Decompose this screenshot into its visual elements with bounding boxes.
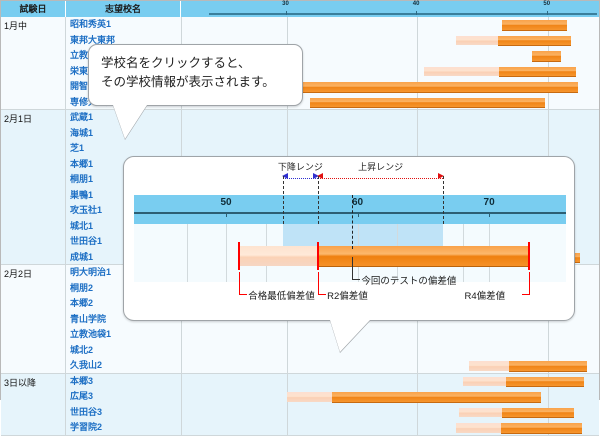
row-plot: [181, 141, 599, 157]
table-row[interactable]: 世田谷3: [66, 405, 599, 421]
school-name-link[interactable]: 芝1: [70, 141, 177, 157]
grid-line: [417, 48, 418, 64]
leader-r4: [522, 272, 530, 295]
detail-tail: [330, 320, 370, 352]
bar-segment-dark[interactable]: [293, 82, 578, 93]
leader-min-pass: [239, 272, 247, 295]
grid-line: [287, 374, 288, 390]
row-plot: [181, 420, 599, 436]
bar-segment-pale[interactable]: [459, 408, 502, 418]
bar-segment-pale[interactable]: [287, 392, 333, 402]
header-axis: 304050: [181, 1, 599, 17]
bar-segment-dark[interactable]: [501, 423, 582, 434]
detail-plot: [134, 224, 566, 282]
table-header: 試験日 志望校名 304050: [1, 1, 599, 17]
grid-line: [548, 141, 549, 157]
table-row[interactable]: 久我山2: [66, 358, 599, 374]
label-r4: R4偏差値: [465, 288, 506, 302]
grid-line: [548, 389, 549, 405]
bar-segment-dark[interactable]: [310, 98, 545, 109]
label-r2: R2偏差値: [327, 288, 368, 302]
table-row[interactable]: 芝1: [66, 141, 599, 157]
bar-segment-dark[interactable]: [499, 67, 576, 78]
group-date-label: 2月2日: [1, 265, 66, 373]
row-plot: [181, 126, 599, 142]
bar-segment-dark[interactable]: [502, 20, 567, 31]
grid-line: [417, 110, 418, 126]
row-plot: [181, 17, 599, 33]
bar-segment-pale[interactable]: [424, 67, 500, 77]
group-date-label: 1月中: [1, 17, 66, 109]
row-plot: [181, 374, 599, 390]
table-row[interactable]: 本郷3: [66, 374, 599, 390]
detail-axis-label-60: 60: [352, 197, 363, 208]
tooltip-text: 学校名をクリックすると、 その学校情報が表示されます。: [89, 45, 302, 102]
grid-line: [417, 343, 418, 359]
range-guide-line-a: [283, 176, 284, 224]
school-name-link[interactable]: 学習院2: [70, 420, 177, 436]
detail-axis-tick-60: [358, 213, 359, 217]
table-row[interactable]: 昭和秀英1: [66, 17, 599, 33]
school-click-tooltip: 学校名をクリックすると、 その学校情報が表示されます。: [88, 44, 303, 106]
deviation-detail-callout: 下降レンジ 上昇レンジ 506070: [123, 156, 575, 321]
schedule-chart-app: 試験日 志望校名 304050 1月中昭和秀英1東邦大東邦立教新座1栄東A開智1…: [0, 0, 600, 400]
range-down-label: 下降レンジ: [278, 160, 323, 173]
grid-line: [287, 420, 288, 436]
grid-line: [548, 343, 549, 359]
grid-line: [548, 95, 549, 111]
table-row[interactable]: 広尾3: [66, 389, 599, 405]
marker-current-line: [352, 195, 353, 249]
detail-axis-label-70: 70: [484, 197, 495, 208]
header-school-name: 志望校名: [66, 1, 181, 17]
grid-line: [287, 141, 288, 157]
leader-r2: [318, 272, 326, 295]
group-rows: 本郷3広尾3世田谷3学習院2: [66, 374, 599, 435]
range-guide-line-b: [318, 176, 319, 224]
bar-segment-dark[interactable]: [506, 377, 584, 388]
grid-line: [548, 110, 549, 126]
grid-line: [287, 17, 288, 33]
detail-axis: 506070: [134, 195, 566, 217]
bar-segment-pale[interactable]: [456, 423, 500, 433]
bar-segment-dark[interactable]: [532, 51, 561, 62]
axis-tick-label-30: 30: [282, 0, 289, 12]
detail-axis-band: [134, 217, 566, 224]
tooltip-line-2: その学校情報が表示されます。: [101, 73, 290, 92]
axis-baseline: [209, 13, 597, 15]
detail-axis-label-50: 50: [220, 197, 231, 208]
row-plot: [181, 358, 599, 374]
axis-tick-label-50: 50: [543, 0, 550, 12]
school-name-link[interactable]: 本郷3: [70, 374, 177, 390]
detail-bar-pale: [239, 246, 318, 266]
bar-segment-dark[interactable]: [509, 361, 587, 372]
grid-line: [417, 405, 418, 421]
row-plot: [181, 389, 599, 405]
row-plot: [181, 343, 599, 359]
label-current: 今回のテストの偏差値: [361, 273, 456, 287]
table-row[interactable]: 学習院2: [66, 420, 599, 436]
detail-axis-line: [134, 212, 566, 214]
grid-line: [548, 126, 549, 142]
row-plot: [181, 110, 599, 126]
range-indicators: 下降レンジ 上昇レンジ: [124, 157, 574, 195]
grid-line: [417, 358, 418, 374]
label-min-pass: 合格最低偏差値: [248, 288, 315, 302]
detail-axis-tick-70: [489, 213, 490, 217]
grid-line: [417, 374, 418, 390]
range-guide-line-c: [443, 176, 444, 224]
group-date-label: 2月1日: [1, 110, 66, 264]
row-plot: [181, 327, 599, 343]
tooltip-line-1: 学校名をクリックすると、: [101, 54, 290, 73]
detail-bar-dark: [318, 246, 528, 267]
school-name-link[interactable]: 世田谷3: [70, 405, 177, 421]
bar-segment-dark[interactable]: [332, 392, 541, 403]
grid-line: [287, 110, 288, 126]
row-plot: [181, 405, 599, 421]
school-name-link[interactable]: 城北2: [70, 343, 177, 359]
range-up-label: 上昇レンジ: [358, 160, 403, 173]
grid-line: [417, 64, 418, 80]
bar-segment-pale[interactable]: [469, 361, 508, 371]
header-exam-date: 試験日: [1, 1, 66, 17]
grid-line: [548, 327, 549, 343]
grid-line: [287, 126, 288, 142]
detail-grid-line: [187, 224, 188, 282]
detail-axis-tick-50: [226, 213, 227, 217]
school-name-link[interactable]: 久我山2: [70, 358, 177, 374]
school-name-link[interactable]: 昭和秀英1: [70, 17, 177, 33]
grid-line: [417, 141, 418, 157]
bar-segment-pale[interactable]: [463, 377, 506, 387]
school-name-link[interactable]: 立教池袋1: [70, 327, 177, 343]
grid-line: [417, 327, 418, 343]
tooltip-tail: [113, 105, 147, 139]
grid-line: [287, 343, 288, 359]
leader-current: [352, 257, 360, 280]
axis-tick-label-40: 40: [413, 0, 420, 12]
group-date-label: 3日以降: [1, 374, 66, 435]
range-up-arrow: [318, 178, 443, 179]
grid-line: [417, 420, 418, 436]
bar-segment-dark[interactable]: [502, 408, 574, 419]
marker-min-pass-line: [238, 242, 240, 270]
grid-line: [417, 17, 418, 33]
marker-r2-line: [317, 242, 319, 270]
marker-r4-line: [528, 242, 530, 270]
grid-line: [287, 327, 288, 343]
date-group: 3日以降本郷3広尾3世田谷3学習院2: [1, 374, 599, 436]
grid-line: [287, 358, 288, 374]
bar-segment-dark[interactable]: [498, 36, 571, 47]
grid-line: [287, 405, 288, 421]
grid-line: [417, 126, 418, 142]
grid-line: [417, 33, 418, 49]
bar-segment-pale[interactable]: [456, 36, 498, 46]
school-name-link[interactable]: 広尾3: [70, 389, 177, 405]
detail-grid-line: [226, 224, 227, 282]
